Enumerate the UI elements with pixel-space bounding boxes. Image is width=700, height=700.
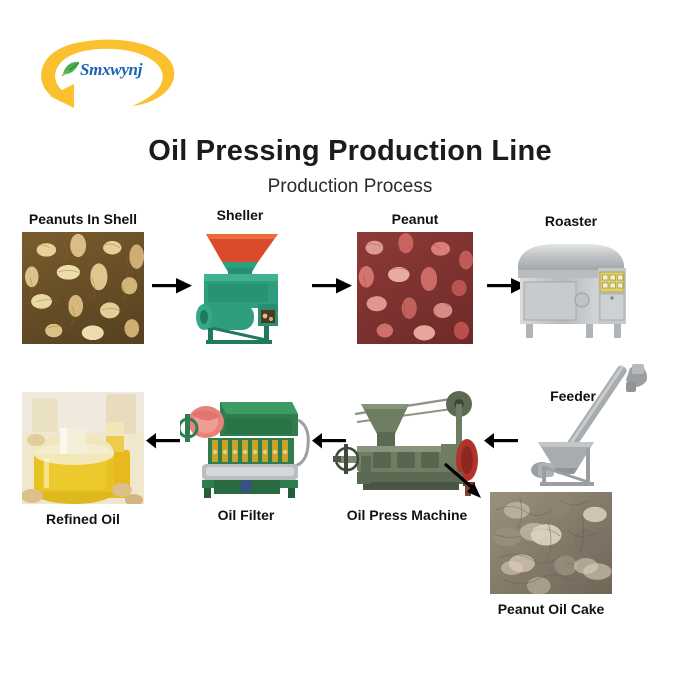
leaf-icon (61, 60, 81, 78)
label-feeder: Feeder (550, 388, 596, 404)
arrow-sheller-to-peanut (312, 275, 352, 302)
label-sheller: Sheller (188, 207, 292, 223)
production-line-infographic: Smxwynj Oil Pressing Production Line Pro… (0, 0, 700, 700)
node-refined-oil[interactable]: Refined Oil (22, 392, 144, 504)
arrow-feeder-to-press (484, 430, 518, 457)
node-oil-filter[interactable]: Oil Filter (180, 394, 312, 500)
node-peanut[interactable]: Peanut (357, 232, 473, 344)
sheller-machine-photo (188, 228, 292, 344)
node-feeder[interactable]: Feeder (520, 362, 680, 490)
label-roaster: Roaster (510, 213, 632, 229)
peanut-oil-cake-photo (490, 492, 612, 594)
label-peanut: Peanut (357, 211, 473, 227)
peanut-shell-texture (22, 232, 144, 344)
peanut-kernels-photo (357, 232, 473, 344)
node-sheller[interactable]: Sheller (188, 228, 292, 344)
node-peanut-oil-cake[interactable]: Peanut Oil Cake (490, 492, 612, 594)
refined-oil-photo (22, 392, 144, 504)
arrow-shell-to-sheller (152, 275, 192, 302)
roaster-machine-photo (510, 234, 632, 342)
label-oil-filter: Oil Filter (180, 507, 312, 523)
peanuts-in-shell-photo (22, 232, 144, 344)
arrow-filter-to-refined-oil (146, 430, 180, 457)
logo-brand-text: Smxwynj (80, 60, 142, 80)
page-subtitle: Production Process (0, 176, 700, 198)
feeder-screw-conveyor-photo (520, 362, 680, 490)
arrow-press-to-cake (443, 462, 491, 511)
page-title: Oil Pressing Production Line (0, 135, 700, 168)
company-logo: Smxwynj (28, 34, 178, 110)
node-roaster[interactable]: Roaster (510, 234, 632, 342)
peanut-kernel-texture (357, 232, 473, 344)
oil-filter-machine-photo (180, 394, 312, 500)
label-refined-oil: Refined Oil (22, 511, 144, 527)
node-peanuts-in-shell[interactable]: Peanuts In Shell (22, 232, 144, 344)
label-peanuts-in-shell: Peanuts In Shell (22, 211, 144, 227)
label-peanut-oil-cake: Peanut Oil Cake (490, 601, 612, 617)
oil-cake-texture (490, 492, 612, 594)
